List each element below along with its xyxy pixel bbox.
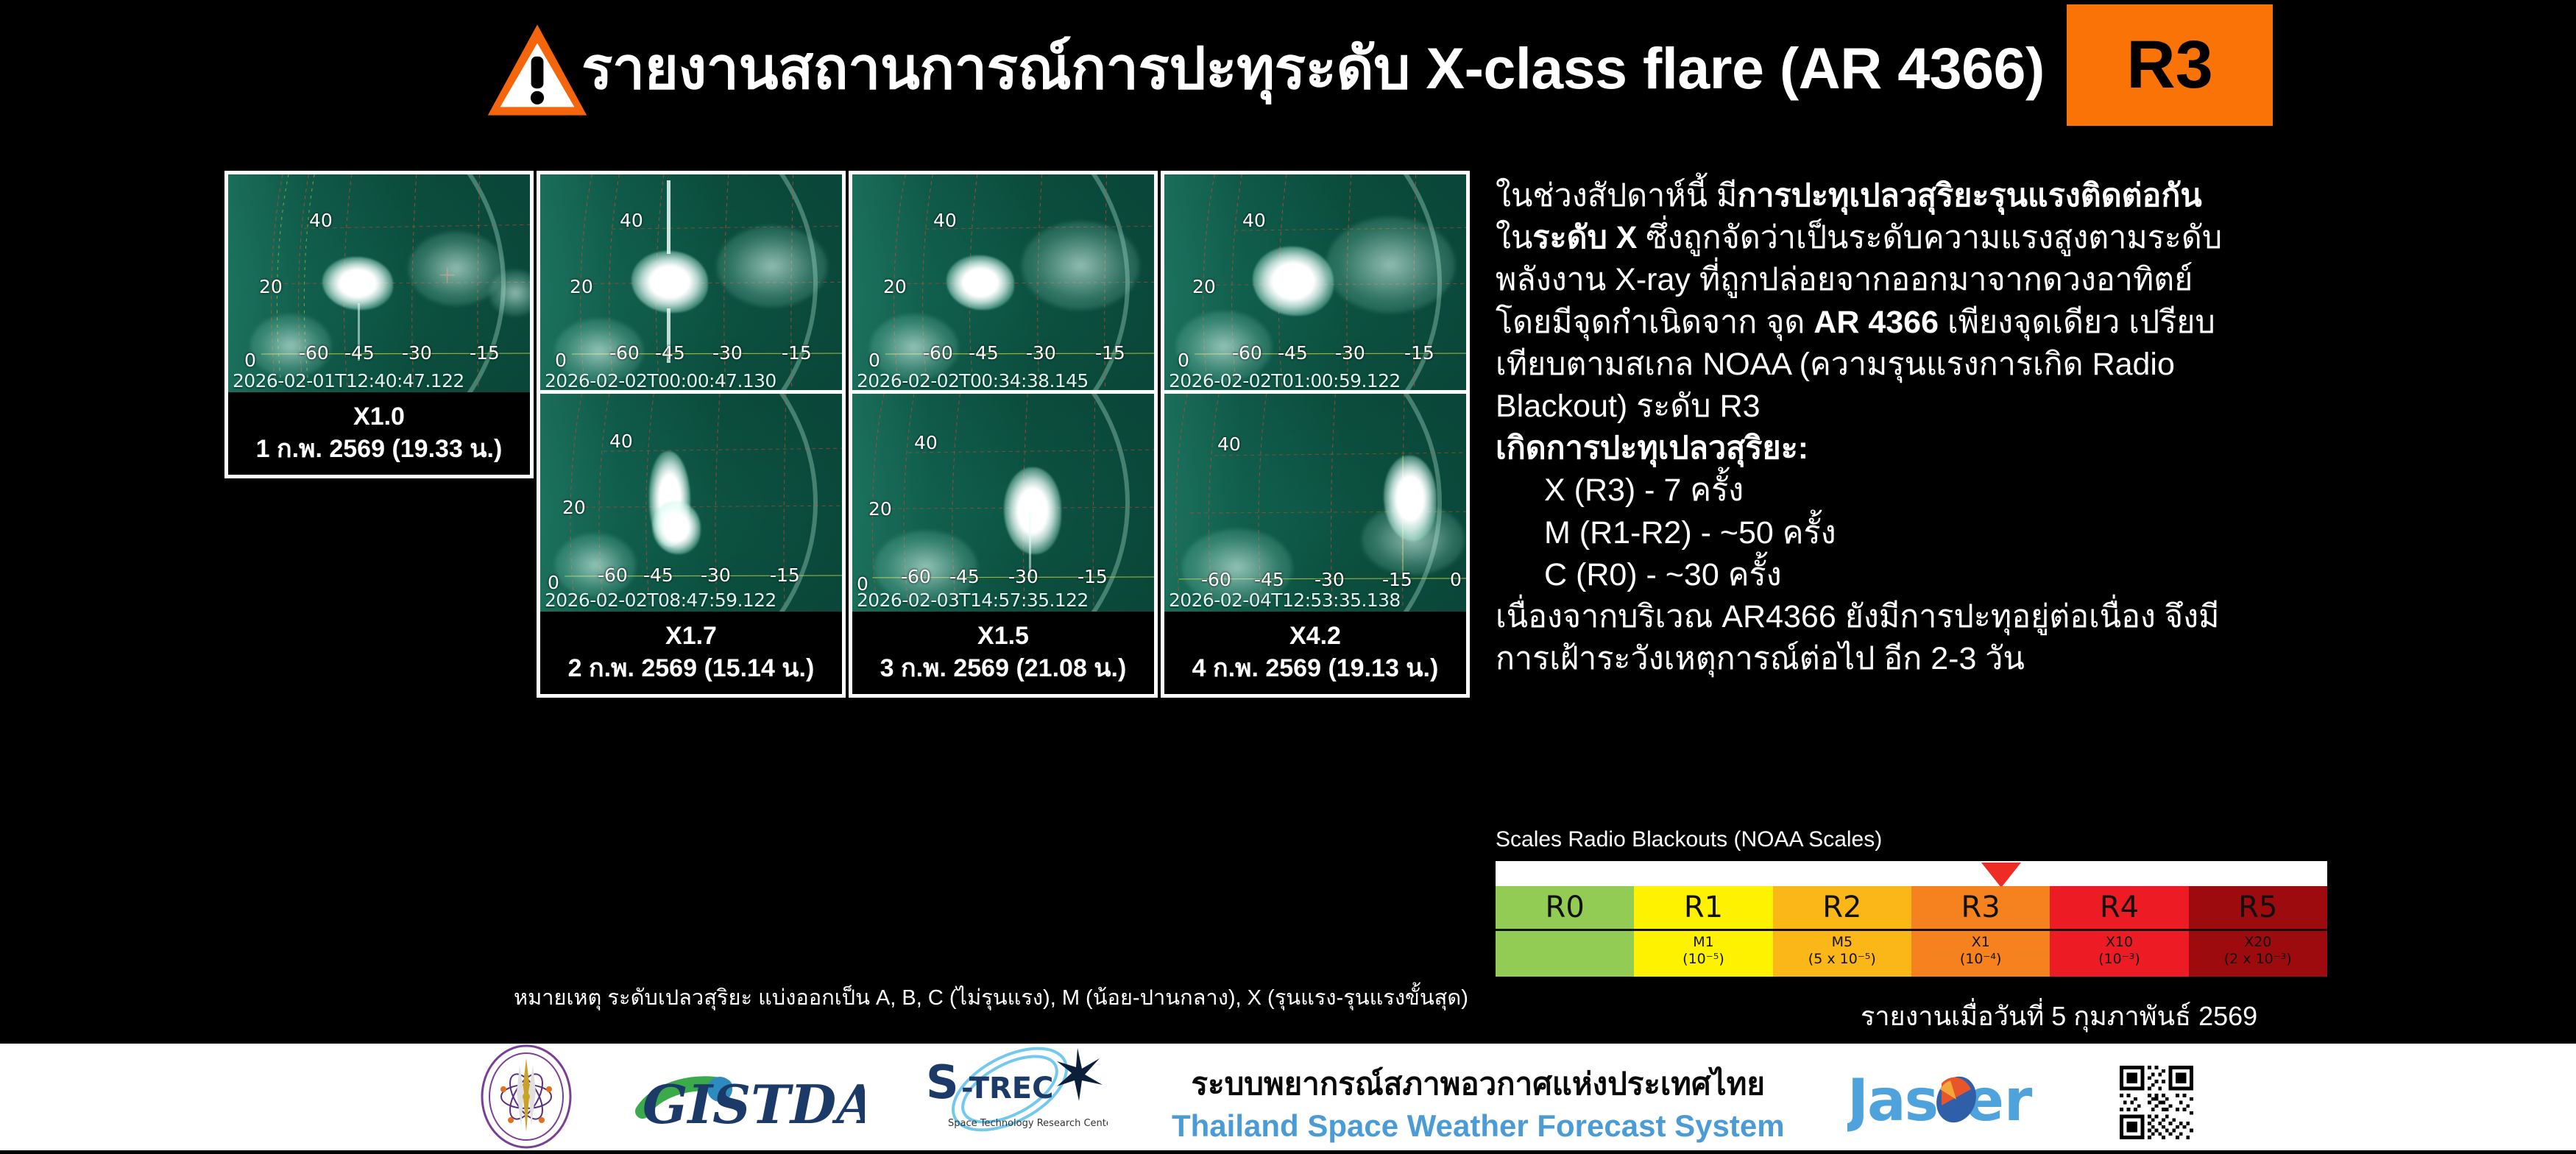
current-level-marker-icon: [1981, 863, 2021, 888]
summary-line-8: การเฝ้าระวังเหตุการณ์ต่อไป อีก 2-3 วัน: [1496, 638, 2327, 680]
scale-cell-flux: M1(10⁻⁵): [1634, 931, 1772, 977]
flux-exponent: (5 x 10⁻⁵): [1808, 951, 1876, 967]
flare-count-heading: เกิดการปะทุเปลวสุริยะ:: [1496, 428, 2327, 470]
solar-euv-image: 40 20 0 -60 -45 -30 -15 2026-02-03T14:57…: [852, 394, 1154, 612]
flare-core: [652, 501, 701, 554]
x-axis-tick: -60: [1232, 342, 1262, 364]
image-timestamp: 2026-02-01T12:40:47.122: [233, 370, 464, 392]
x-axis-tick: -60: [923, 342, 953, 364]
scale-cell-label: R2: [1773, 886, 1911, 929]
x-axis-tick: -15: [1382, 569, 1412, 590]
solar-euv-image: 40 20 0 -60 -45 -30 -15 2026-02-01T12:40…: [228, 174, 530, 392]
system-name-thai: ระบบพยากรณ์สภาพอวกาศแห่งประเทศไทย: [1172, 1060, 1785, 1108]
active-region-glow: [1022, 222, 1139, 310]
x-axis-tick: -45: [949, 566, 980, 587]
summary-line-1-b: การปะทุเปลวสุริยะรุนแรงติดต่อกัน: [1737, 178, 2201, 213]
solar-euv-image: 40 20 0 -60 -45 -30 -15 2026-02-02T00:00…: [540, 174, 842, 392]
summary-line-1: ในช่วงสัปดาห์นี้ มีการปะทุเปลวสุริยะรุนแ…: [1496, 175, 2327, 217]
scale-cell-label: R1: [1634, 886, 1772, 929]
solar-panel[interactable]: 40 20 0 -60 -45 -30 -15 2026-02-03T14:57…: [849, 390, 1158, 698]
scale-cell-label: R5: [2189, 886, 2327, 929]
scale-cell-flux: X10(10⁻³): [2050, 931, 2188, 977]
scale-cell-flux: M5(5 x 10⁻⁵): [1773, 931, 1911, 977]
flux-value: X20: [2244, 934, 2271, 950]
flux-value: X10: [2106, 934, 2133, 950]
y-axis-tick: 40: [620, 210, 643, 231]
qr-code-icon[interactable]: [2120, 1066, 2193, 1139]
noaa-scales-widget: Scales Radio Blackouts (NOAA Scales) R0 …: [1496, 827, 2327, 977]
flux-exponent: (10⁻³): [2098, 951, 2140, 967]
y-axis-tick: 20: [570, 276, 593, 297]
flux-exponent: (10⁻⁴): [1960, 951, 2002, 967]
x-axis-tick: -15: [1404, 342, 1434, 364]
scale-cell-r4[interactable]: R4 X10(10⁻³): [2050, 886, 2188, 977]
y-axis-tick: 40: [933, 210, 957, 231]
summary-line-4-c: เพียงจุดเดียว เปรียบ: [1939, 305, 2215, 340]
scale-cell-r5[interactable]: R5 X20(2 x 10⁻³): [2189, 886, 2327, 977]
scale-cell-flux: X1(10⁻⁴): [1911, 931, 2050, 977]
x-axis-tick: -45: [643, 564, 673, 586]
scale-cell-r2[interactable]: R2 M5(5 x 10⁻⁵): [1773, 886, 1911, 977]
solar-euv-image: 40 20 0 -60 -45 -30 -15 2026-02-02T08:47…: [540, 394, 842, 612]
page-footer: GISTDA S -TREC Space Technology Research…: [0, 1044, 2576, 1150]
x-axis-tick: -15: [770, 564, 800, 586]
flare-count-c: C (R0) - ~30 ครั้ง: [1496, 554, 2327, 596]
scale-cell-flux: [1496, 931, 1634, 977]
report-date: รายงานเมื่อวันที่ 5 กุมภาพันธ์ 2569: [1861, 995, 2257, 1037]
y-axis-tick: 20: [259, 276, 283, 297]
page-title: รายงานสถานการณ์การปะทุระดับ X-class flar…: [581, 34, 2045, 102]
x-axis-tick: -30: [1026, 342, 1056, 364]
page-header: รายงานสถานการณ์การปะทุระดับ X-class flar…: [0, 0, 2576, 140]
flare-datetime: 1 ก.พ. 2569 (19.33 น.): [228, 433, 530, 465]
summary-text-panel: ในช่วงสัปดาห์นี้ มีการปะทุเปลวสุริยะรุนแ…: [1496, 175, 2327, 680]
detector-bleed: [667, 180, 670, 254]
solar-euv-image: 40 20 0 -60 -45 -30 -15 2026-02-02T00:34…: [852, 174, 1154, 392]
y-axis-tick: 20: [868, 498, 892, 520]
summary-line-2: ในระดับ X ซึ่งถูกจัดว่าเป็นระดับความแรงส…: [1496, 217, 2327, 259]
svg-text:Space Technology Research Cent: Space Technology Research Center: [948, 1118, 1108, 1129]
x-axis-tick: -30: [402, 342, 432, 364]
x-axis-tick: -60: [609, 342, 640, 364]
flare-magnitude: X4.2: [1164, 620, 1466, 652]
x-axis-tick: -15: [1095, 342, 1125, 364]
y-axis-tick: 40: [1242, 210, 1266, 231]
svg-text:GISTDA: GISTDA: [643, 1073, 865, 1136]
active-region-glow: [1326, 217, 1455, 313]
x-axis-tick: -45: [1278, 342, 1308, 364]
solar-euv-image: 40 -60 -45 -30 -15 0 2026-02-04T12:53:35…: [1164, 394, 1466, 612]
summary-line-2-b: ระดับ X: [1532, 220, 1637, 255]
svg-text:-TREC: -TREC: [961, 1072, 1054, 1105]
image-timestamp: 2026-02-04T12:53:35.138: [1169, 590, 1401, 611]
y-axis-tick: 20: [1192, 276, 1216, 297]
y-axis-tick: 20: [883, 276, 907, 297]
scale-cell-label: R3: [1911, 886, 2050, 929]
image-timestamp: 2026-02-03T14:57:35.122: [857, 590, 1089, 611]
flare-magnitude: X1.7: [540, 620, 842, 652]
x-axis-tick: -45: [344, 342, 375, 364]
jasper-logo-icon: Jas er: [1847, 1064, 2076, 1138]
x-axis-tick: -45: [969, 342, 999, 364]
flare-core: [1384, 456, 1437, 541]
x-axis-tick: -30: [701, 564, 731, 586]
x-axis-tick: -45: [655, 342, 685, 364]
footnote-text: หมายเหตุ ระดับเปลวสุริยะ แบ่งออกเป็น A, …: [514, 980, 1468, 1014]
summary-line-5: เทียบตามสเกล NOAA (ความรุนแรงการเกิด Rad…: [1496, 344, 2327, 386]
flare-core: [1004, 467, 1061, 554]
x-axis-tick: -60: [299, 342, 329, 364]
scale-cell-label: R0: [1496, 886, 1634, 929]
summary-line-6: Blackout) ระดับ R3: [1496, 386, 2327, 428]
flare-magnitude: X1.0: [228, 400, 530, 433]
x-axis-tick: -15: [1078, 566, 1108, 587]
flare-datetime: 3 ก.พ. 2569 (21.08 น.): [852, 652, 1154, 684]
flux-value: X1: [1972, 934, 1990, 950]
status-badge: R3: [2067, 4, 2273, 126]
x-axis-tick: -15: [782, 342, 812, 364]
image-timestamp: 2026-02-02T01:00:59.122: [1169, 370, 1401, 392]
panel-caption: X1.5 3 ก.พ. 2569 (21.08 น.): [852, 612, 1154, 694]
x-axis-tick: -60: [901, 566, 931, 587]
flux-exponent: (10⁻⁵): [1682, 951, 1724, 967]
summary-line-7: เนื่องจากบริเวณ AR4366 ยังมีการปะทุอยู่ต…: [1496, 596, 2327, 638]
svg-text:Jas: Jas: [1847, 1068, 1937, 1134]
y-axis-tick: 20: [562, 497, 586, 518]
flux-value: M5: [1832, 934, 1853, 950]
image-timestamp: 2026-02-02T00:34:38.145: [857, 370, 1089, 392]
flux-value: M1: [1693, 934, 1713, 950]
x-axis-tick: -30: [1335, 342, 1365, 364]
y-axis-tick: 0: [244, 350, 256, 371]
solar-panel[interactable]: 40 20 0 -60 -45 -30 -15 2026-02-02T08:47…: [537, 390, 846, 698]
summary-line-4-a: โดยมีจุดกำเนิดจาก จุด: [1496, 305, 1814, 340]
summary-line-3: พลังงาน X-ray ที่ถูกปล่อยจากออกมาจากดวงอ…: [1496, 259, 2327, 301]
y-axis-tick: 0: [555, 350, 567, 371]
panel-caption: X4.2 4 ก.พ. 2569 (19.13 น.): [1164, 612, 1466, 694]
scale-cell-label: R4: [2050, 886, 2188, 929]
x-axis-tick: 0: [1450, 569, 1462, 590]
x-axis-tick: -30: [1314, 569, 1345, 590]
scale-cell-flux: X20(2 x 10⁻³): [2189, 931, 2327, 977]
summary-line-2-c: ซึ่งถูกจัดว่าเป็นระดับความแรงสูงตามระดับ: [1637, 220, 2222, 255]
warning-triangle-icon: [486, 22, 589, 118]
scale-marker-track: [1496, 861, 2327, 886]
summary-line-1-a: ในช่วงสัปดาห์นี้ มี: [1496, 178, 1737, 213]
y-axis-tick: 0: [1178, 350, 1189, 371]
summary-line-2-a: ใน: [1496, 220, 1532, 255]
scale-bar: R0 R1 M1(10⁻⁵) R2 M5(5 x 10⁻⁵) R3 X1(10⁻…: [1496, 861, 2327, 977]
x-axis-tick: -60: [1201, 569, 1231, 590]
mhesi-seal-logo-icon: [471, 1044, 581, 1150]
image-timestamp: 2026-02-02T08:47:59.122: [545, 590, 776, 611]
solar-panel[interactable]: 40 -60 -45 -30 -15 0 2026-02-04T12:53:35…: [1161, 390, 1470, 698]
solar-panel[interactable]: 40 20 0 -60 -45 -30 -15 2026-02-01T12:40…: [224, 171, 534, 478]
svg-text:S: S: [926, 1055, 959, 1109]
flare-datetime: 2 ก.พ. 2569 (15.14 น.): [540, 652, 842, 684]
strec-logo-icon: S -TREC Space Technology Research Center: [913, 1044, 1108, 1150]
x-axis-tick: -45: [1254, 569, 1284, 590]
flare-datetime: 4 ก.พ. 2569 (19.13 น.): [1164, 652, 1466, 684]
scale-cell-r1[interactable]: R1 M1(10⁻⁵): [1634, 886, 1772, 977]
panel-caption: X1.7 2 ก.พ. 2569 (15.14 น.): [540, 612, 842, 694]
flare-count-x: X (R3) - 7 ครั้ง: [1496, 470, 2327, 511]
y-axis-tick: 40: [1217, 433, 1241, 455]
y-axis-tick: 0: [868, 350, 880, 371]
x-axis-tick: -15: [470, 342, 500, 364]
summary-line-4-b: AR 4366: [1814, 305, 1939, 340]
system-name-block: ระบบพยากรณ์สภาพอวกาศแห่งประเทศไทย Thaila…: [1172, 1060, 1785, 1144]
flux-exponent: (2 x 10⁻³): [2224, 951, 2292, 967]
y-axis-tick: 40: [309, 210, 333, 231]
x-axis-tick: -30: [712, 342, 743, 364]
solar-euv-image: 40 20 0 -60 -45 -30 -15 2026-02-02T01:00…: [1164, 174, 1466, 392]
scale-cell-r0[interactable]: R0: [1496, 886, 1634, 977]
scales-title: Scales Radio Blackouts (NOAA Scales): [1496, 827, 2327, 852]
y-axis-tick: 40: [914, 432, 938, 453]
flare-count-m: M (R1-R2) - ~50 ครั้ง: [1496, 512, 2327, 554]
panel-caption: X1.0 1 ก.พ. 2569 (19.33 น.): [228, 392, 530, 475]
summary-line-4: โดยมีจุดกำเนิดจาก จุด AR 4366 เพียงจุดเด…: [1496, 302, 2327, 344]
image-timestamp: 2026-02-02T00:00:47.130: [545, 370, 776, 392]
x-axis-tick: -30: [1008, 566, 1038, 587]
scale-cell-r3[interactable]: R3 X1(10⁻⁴): [1911, 886, 2050, 977]
x-axis-tick: -60: [598, 564, 628, 586]
gistda-logo-icon: GISTDA: [629, 1044, 865, 1150]
scale-cells: R0 R1 M1(10⁻⁵) R2 M5(5 x 10⁻⁵) R3 X1(10⁻…: [1496, 886, 2327, 977]
active-region-glow: [717, 226, 827, 307]
system-name-english: Thailand Space Weather Forecast System: [1172, 1108, 1785, 1144]
y-axis-tick: 40: [609, 431, 633, 452]
flare-magnitude: X1.5: [852, 620, 1154, 652]
